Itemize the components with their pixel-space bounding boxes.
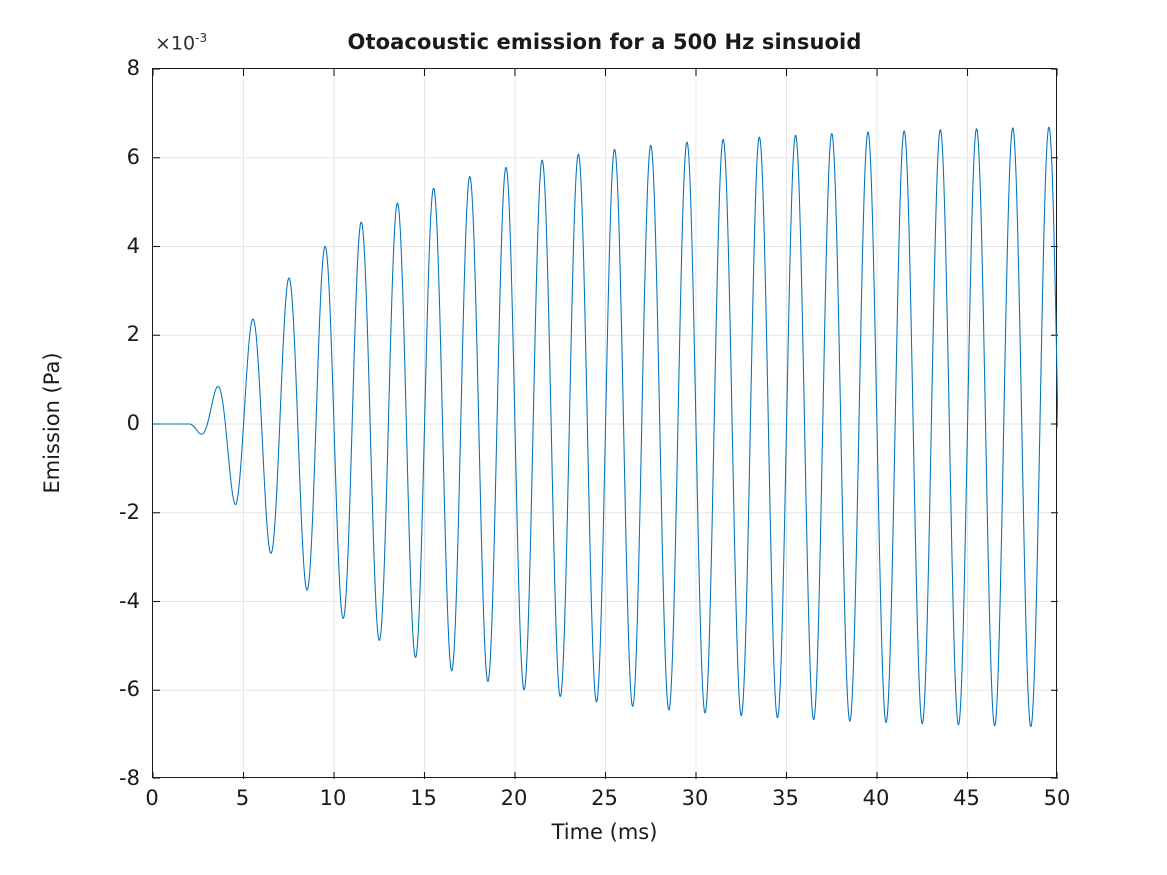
y-tick-label-4: 4 — [88, 234, 140, 258]
y-tick-label-0: 0 — [88, 411, 140, 435]
exponent-power: -3 — [195, 31, 207, 45]
x-tick-label-5: 5 — [236, 786, 249, 810]
waveform-svg — [153, 69, 1058, 779]
y-axis-label: Emission (Pa) — [40, 352, 64, 493]
x-tick-label-0: 0 — [145, 786, 158, 810]
x-tick-label-15: 15 — [410, 786, 437, 810]
x-tick-label-20: 20 — [501, 786, 528, 810]
x-tick-label-50: 50 — [1044, 786, 1071, 810]
exponent-mantissa: ×10 — [155, 32, 195, 54]
x-tick-label-35: 35 — [772, 786, 799, 810]
x-tick-label-45: 45 — [953, 786, 980, 810]
y-tick-label-neg4: -4 — [88, 589, 140, 613]
chart-title: Otoacoustic emission for a 500 Hz sinsuo… — [152, 30, 1057, 54]
y-tick-label-neg8: -8 — [88, 766, 140, 790]
x-tick-label-10: 10 — [320, 786, 347, 810]
y-tick-label-6: 6 — [88, 145, 140, 169]
y-tick-label-neg2: -2 — [88, 500, 140, 524]
y-axis-exponent-label: ×10-3 — [155, 31, 207, 54]
matlab-figure: Otoacoustic emission for a 500 Hz sinsuo… — [0, 0, 1167, 875]
plot-area — [152, 68, 1057, 778]
x-tick-label-40: 40 — [863, 786, 890, 810]
x-axis-label: Time (ms) — [152, 820, 1057, 844]
y-tick-label-8: 8 — [88, 56, 140, 80]
x-tick-label-30: 30 — [682, 786, 709, 810]
y-tick-label-neg6: -6 — [88, 677, 140, 701]
y-tick-label-2: 2 — [88, 322, 140, 346]
x-tick-label-25: 25 — [591, 786, 618, 810]
